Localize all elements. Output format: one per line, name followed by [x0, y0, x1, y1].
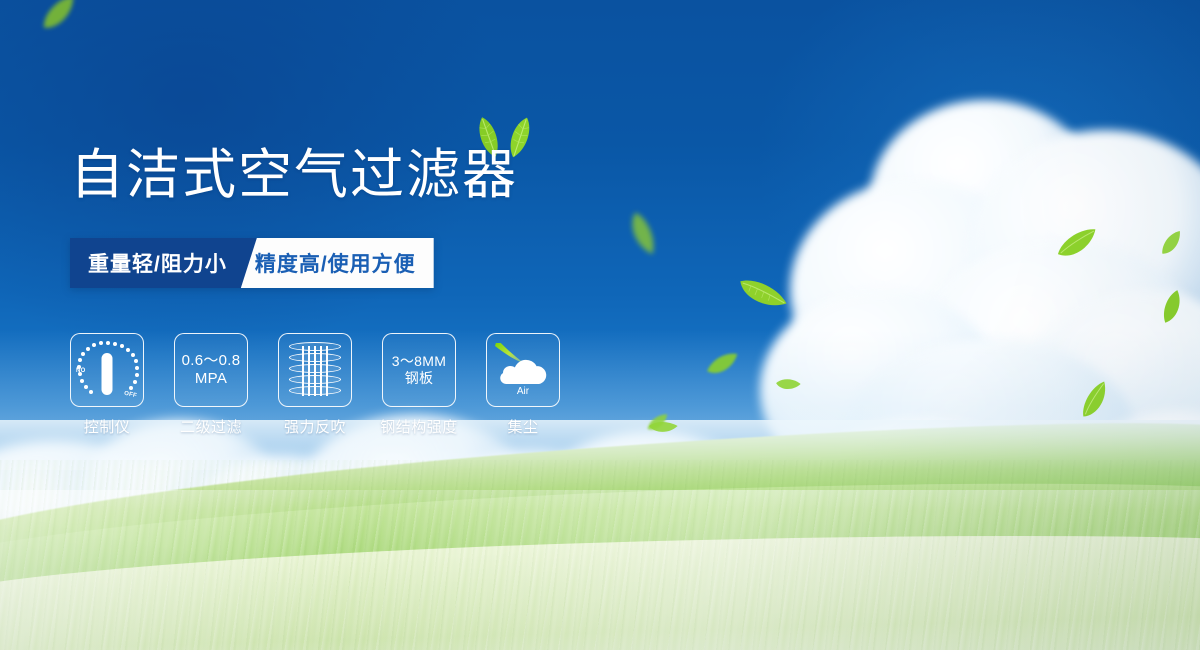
feature-label: 二级过滤 — [180, 416, 242, 437]
feature-icon-box: Air — [486, 333, 560, 407]
gauge-knob — [102, 353, 113, 395]
steel-material: 钢板 — [392, 370, 446, 387]
filter-stack-icon — [289, 342, 341, 398]
steel-thickness: 3～8MM — [392, 353, 446, 370]
feature-item-controller[interactable]: NO OFF 控制仪 — [70, 333, 144, 437]
feature-item-back-blow[interactable]: 强力反吹 — [278, 333, 352, 437]
product-banner: 自洁式空气过滤器 重量轻/阻力小 精度高/使用方便 — [0, 0, 1200, 650]
subtitle-right-tag: 精度高/使用方便 — [241, 238, 434, 288]
gauge-label-off: OFF — [124, 391, 138, 400]
cloud-air-icon: Air — [494, 343, 552, 397]
feature-item-two-stage[interactable]: 0.6～0.8 MPA 二级过滤 — [174, 333, 248, 437]
feature-icon-box — [278, 333, 352, 407]
pressure-text-icon: 0.6～0.8 MPA — [182, 352, 241, 387]
air-label: Air — [517, 386, 530, 397]
grass-field — [0, 420, 1200, 650]
floating-leaf-icon — [624, 209, 657, 259]
floating-leaf-icon — [35, 0, 85, 36]
floating-leaf-icon — [703, 350, 743, 380]
pressure-range: 0.6～0.8 — [182, 352, 241, 370]
subtitle-left-tag: 重量轻/阻力小 — [70, 238, 257, 288]
gauge-dial-icon: NO OFF — [77, 341, 137, 399]
feature-label: 集尘 — [507, 416, 538, 437]
feature-label: 钢结构强度 — [380, 416, 458, 437]
subtitle-bar: 重量轻/阻力小 精度高/使用方便 — [70, 238, 434, 288]
steel-text-icon: 3～8MM 钢板 — [392, 353, 446, 386]
feature-list: NO OFF 控制仪 0.6～0.8 MPA 二级过滤 — [70, 333, 560, 437]
feature-icon-box: 3～8MM 钢板 — [382, 333, 456, 407]
pressure-unit: MPA — [182, 370, 241, 388]
feature-icon-box: NO OFF — [70, 333, 144, 407]
feature-item-dust-collect[interactable]: Air 集尘 — [486, 333, 560, 437]
feature-label: 强力反吹 — [284, 416, 346, 437]
page-title: 自洁式空气过滤器 — [70, 148, 518, 202]
feature-icon-box: 0.6～0.8 MPA — [174, 333, 248, 407]
feature-item-steel-strength[interactable]: 3～8MM 钢板 钢结构强度 — [382, 333, 456, 437]
feature-label: 控制仪 — [84, 416, 131, 437]
gauge-label-no: NO — [76, 368, 86, 374]
